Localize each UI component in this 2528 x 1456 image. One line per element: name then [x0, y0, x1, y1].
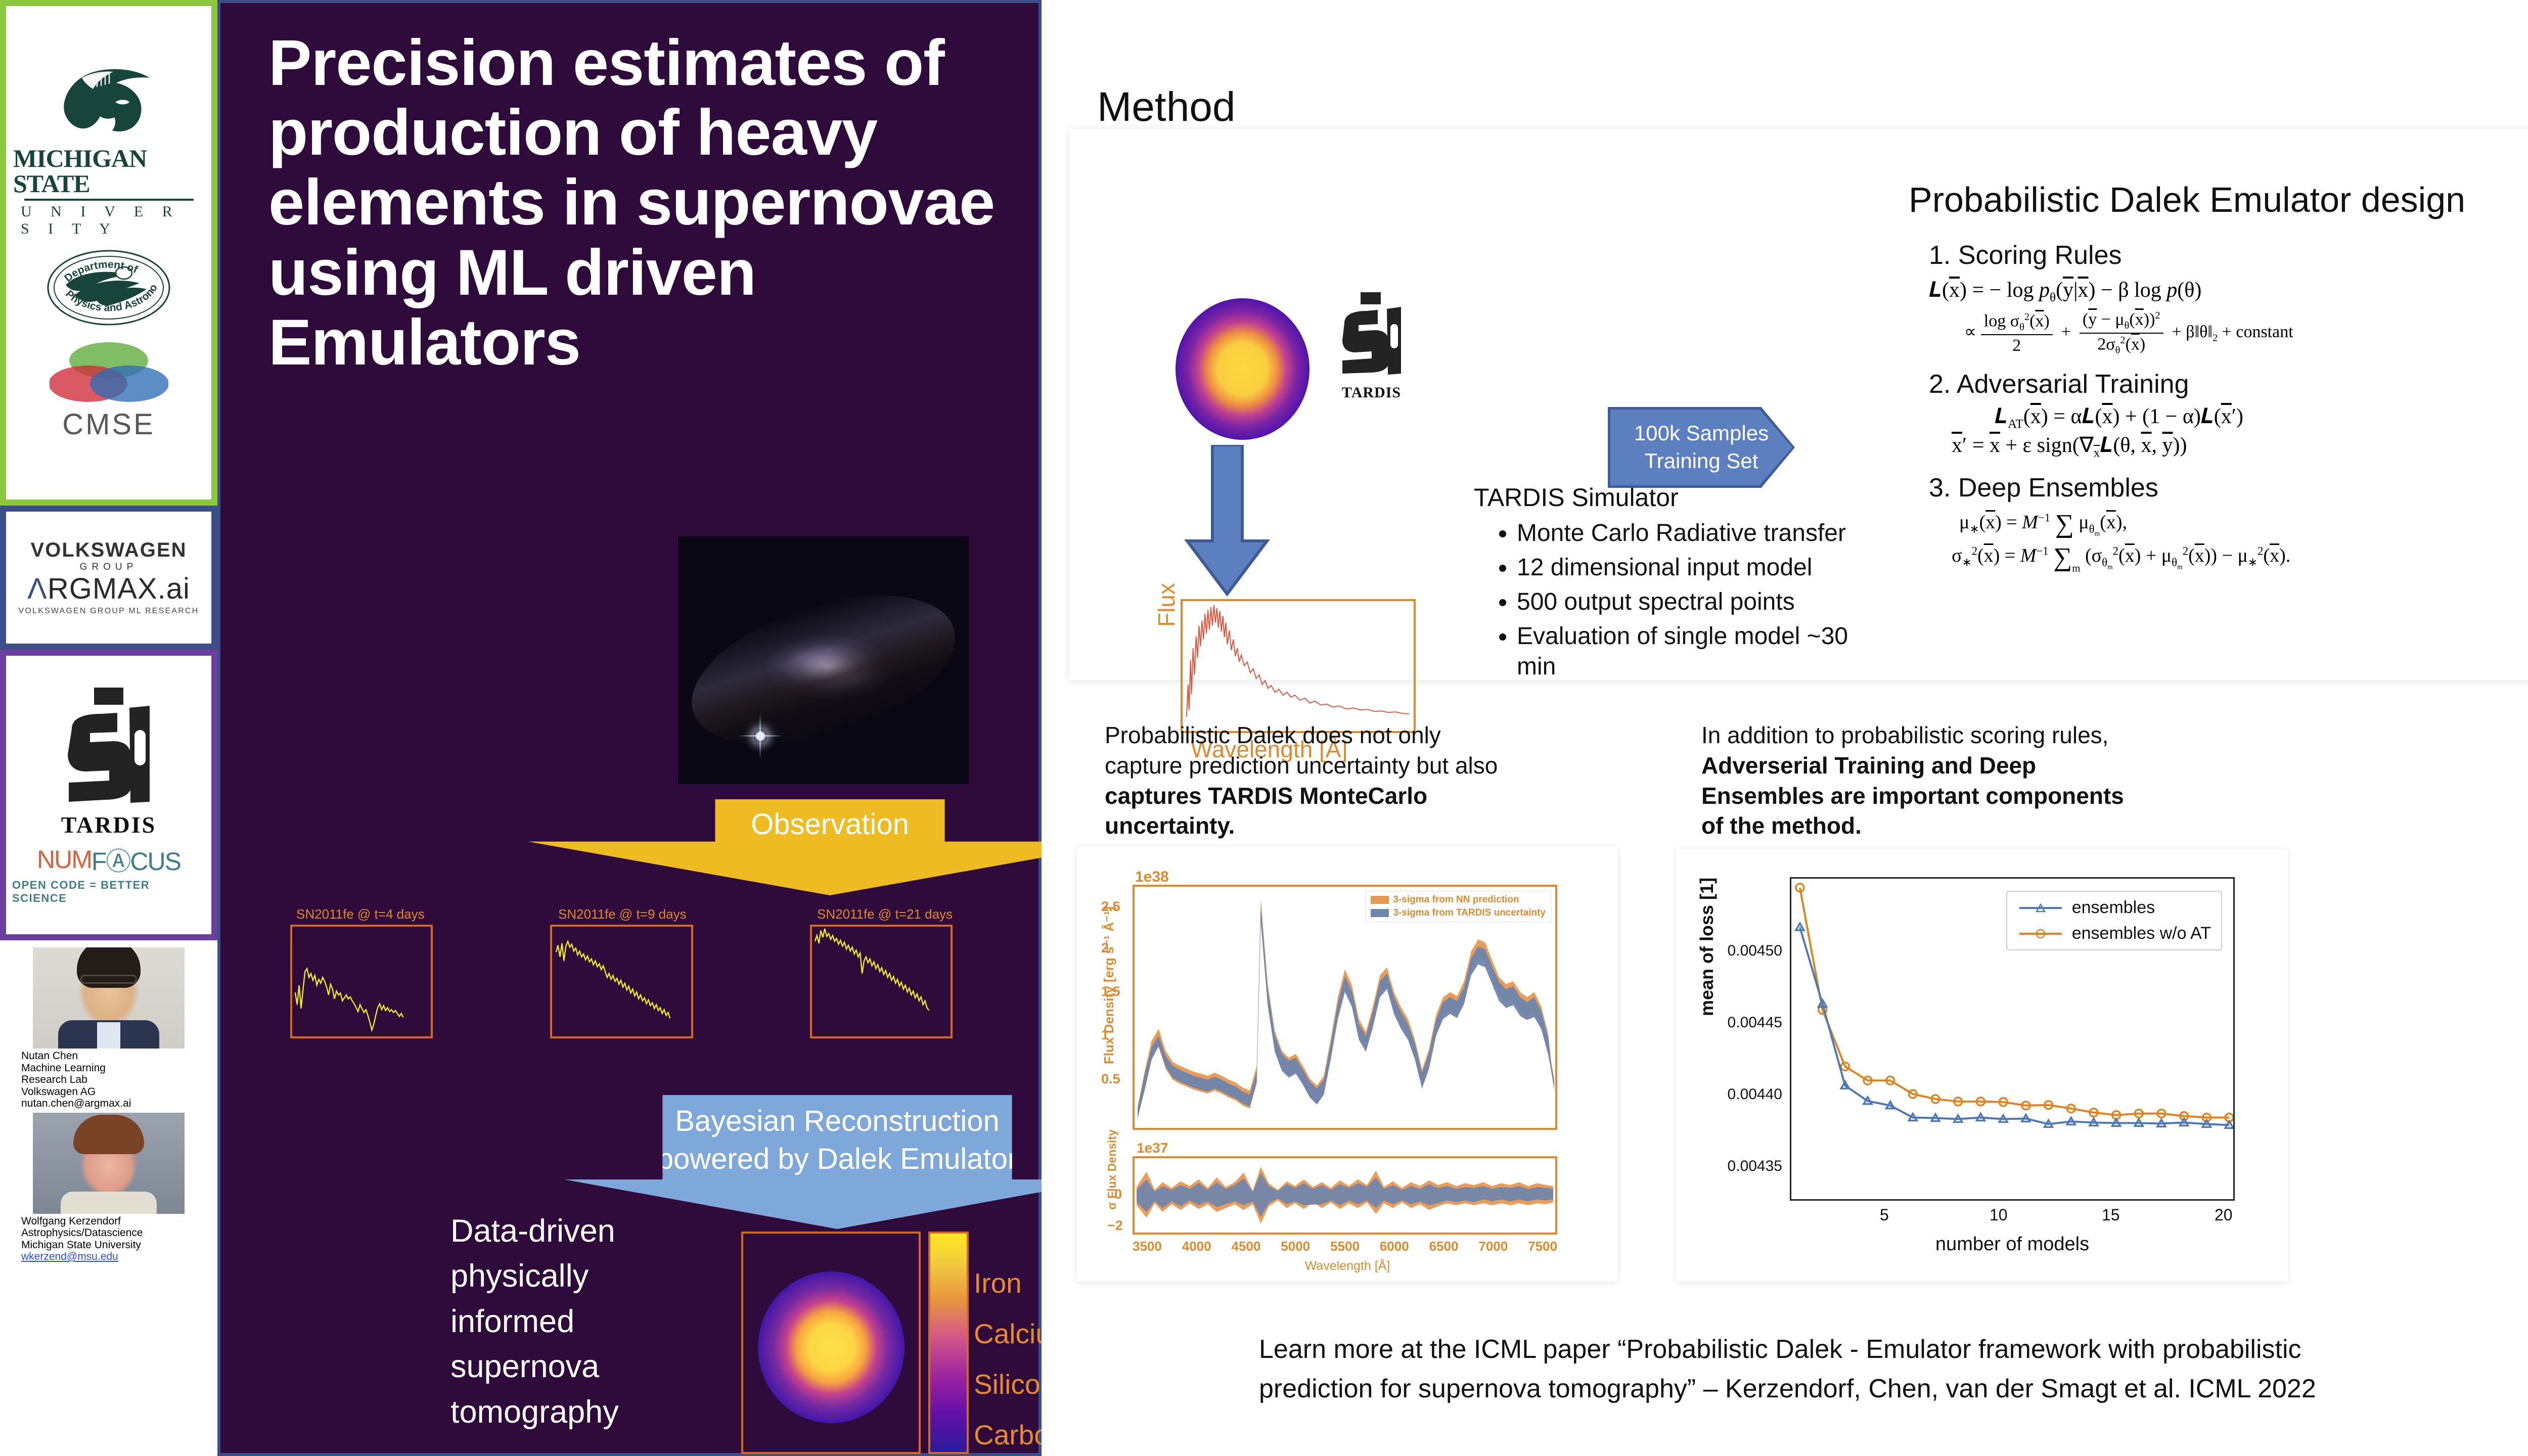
residual-exponent-label: 1e37 [1137, 1140, 1168, 1156]
xtick: 5000 [1281, 1239, 1310, 1254]
xtick: 7000 [1478, 1239, 1508, 1254]
legend-label-nn: 3-sigma from NN prediction [1393, 894, 1519, 905]
legend-label-ensembles-no-at: ensembles w/o AT [2072, 924, 2211, 943]
loss-ytick-column: 0.00450 0.00445 0.00440 0.00435 [1711, 895, 1782, 1198]
vw-ml-research-text: VOLKSWAGEN GROUP ML RESEARCH [18, 607, 199, 616]
numfocus-tagline: OPEN CODE = BETTER SCIENCE [12, 879, 205, 905]
emulator-design-title: Probabilistic Dalek Emulator design [1909, 179, 2465, 220]
step-number: 1. [1929, 241, 1951, 270]
ytick: 0.00440 [1728, 1086, 1782, 1103]
bayesian-arrow-line-2: powered by Dalek Emulator [657, 1140, 1017, 1178]
spectrum-curve [552, 927, 691, 1036]
equation-deep-ensembles-2: σ∗2(x) = M−1 ∑m (σθm2(x) + μθm2(x)) − μ∗… [1952, 542, 2290, 574]
step-3-heading: 3. Deep Ensembles [1929, 473, 2158, 503]
ytick-1-5: 1.5 [1101, 984, 1120, 999]
ytick-0-5: 0.5 [1101, 1071, 1120, 1087]
step-name: Adversarial Training [1957, 370, 2189, 399]
xtick: 20 [2215, 1206, 2233, 1224]
tardis-output-spectrum-plot [1181, 599, 1416, 733]
author-name: Nutan Chen [21, 1050, 207, 1062]
loss-x-axis-label: number of models [1790, 1234, 2235, 1255]
argmax-wordmark: ΛRGMAX.ai [27, 574, 190, 604]
step-name: Scoring Rules [1958, 241, 2122, 270]
author-name: Wolfgang Kerzendorf [21, 1215, 207, 1227]
data-driven-caption: Data-driven physically informed supernov… [450, 1209, 713, 1435]
msu-wordmark: MICHIGAN STATE [13, 146, 204, 196]
bayesian-arrow-line-1: Bayesian Reconstruction [657, 1102, 1017, 1140]
simulator-bullet-list: Monte Carlo Radiative transfer 12 dimens… [1492, 518, 1886, 686]
legend-label-ensembles: ensembles [2072, 898, 2155, 918]
colorbar-label-iron: Iron [974, 1267, 1022, 1299]
list-item: 12 dimensional input model [1517, 553, 1886, 583]
tardis-sn-icon [46, 686, 172, 814]
spectrum-label-2: SN2011fe @ t=21 days [817, 906, 953, 922]
spectrum-result-card: 1e38 Flux Density [erg s⁻¹ Å⁻¹] 3-sigma … [1077, 847, 1618, 1282]
flux-density-plot: 3-sigma from NN prediction 3-sigma from … [1133, 885, 1557, 1130]
poster-root: MICHIGAN STATE U N I V E R S I T Y Depar… [0, 0, 2528, 1456]
legend-label-tardis: 3-sigma from TARDIS uncertainty [1393, 907, 1546, 919]
mean-loss-plot: ensembles ensembles w/o AT [1790, 877, 2235, 1201]
ytick: 0.00450 [1728, 942, 1782, 960]
ytick-2-5: 2.5 [1101, 899, 1120, 915]
step-number: 3. [1929, 473, 1951, 503]
result-left-bold: captures TARDIS MonteCarlo uncertainty. [1105, 783, 1427, 839]
spectrum-label-0: SN2011fe @ t=4 days [296, 906, 425, 922]
xtick: 5500 [1330, 1239, 1360, 1254]
equation-scoring-rule-2: ∝ log σθ2(x)2 + (y − μθ(x))22σθ2(x) + β‖… [1964, 310, 2293, 356]
legend-swatch-nn [1371, 896, 1389, 904]
equation-adversarial-1: 𝑳AT(x) = α𝑳(x) + (1 − α)𝑳(x′) [1995, 404, 2243, 431]
supernova-host-galaxy-image [678, 536, 969, 784]
residual-ytick-0: 0 [1114, 1187, 1122, 1202]
tomography-blob [758, 1271, 905, 1423]
loss-result-card: mean of loss [1] 0.00450 0.00445 0.00440… [1676, 849, 2288, 1282]
wavelength-axis-title: Wavelength [Å] [1077, 1259, 1618, 1273]
result-right-plain: In addition to probabilistic scoring rul… [1701, 722, 2108, 748]
tardis-caption: TARDIS [1325, 384, 1418, 401]
avatar [33, 947, 185, 1049]
content-column: Method TARDIS Flux Wavelength [Å] TARDIS… [1042, 0, 2528, 1456]
tardis-wordmark: TARDIS [61, 811, 156, 838]
step-number: 2. [1929, 370, 1951, 399]
author-affil-2: Research Lab [21, 1074, 207, 1086]
author-nutan-chen: Nutan Chen Machine Learning Research Lab… [0, 947, 217, 1110]
numfocus-num: NUM [37, 845, 92, 874]
flux-band-chart [1135, 887, 1555, 1128]
spectrum-panel-0 [290, 925, 433, 1038]
physics-astronomy-seal-icon: Department of Physics and Astronomy [46, 249, 172, 327]
training-arrow-line-1: 100k Samples [1634, 420, 1769, 447]
legend-marker-ensembles-no-at [2017, 928, 2064, 939]
author-affil-1: Machine Learning [21, 1062, 207, 1074]
ytick: 0.00435 [1728, 1158, 1782, 1175]
training-set-chevron: 100k Samples Training Set [1610, 409, 1792, 485]
numfocus-wordmark: NUMFⒶCUS [37, 841, 180, 878]
logo-sidebar: MICHIGAN STATE U N I V E R S I T Y Depar… [0, 0, 217, 1456]
xtick: 4500 [1232, 1239, 1261, 1254]
spectrum-curve [812, 927, 951, 1036]
cmse-venn-icon [50, 339, 168, 407]
equation-deep-ensembles-1: μ∗(x) = M−1 ∑ μθm(x), [1959, 509, 2127, 539]
volkswagen-argmax-logo-box: VOLKSWAGEN GROUP ΛRGMAX.ai VOLKSWAGEN GR… [0, 506, 217, 650]
xtick: 7500 [1528, 1239, 1557, 1254]
list-item: Monte Carlo Radiative transfer [1517, 518, 1886, 549]
numfocus-focus: FⒶCUS [92, 841, 180, 878]
legend-swatch-tardis [1371, 909, 1389, 917]
element-colorbar [928, 1232, 969, 1454]
ytick-2-0: 2 [1101, 940, 1109, 956]
author-bio: Nutan Chen Machine Learning Research Lab… [10, 1050, 207, 1110]
section-heading-method: Method [1097, 83, 1236, 131]
avatar [33, 1113, 185, 1214]
flux-legend: 3-sigma from NN prediction 3-sigma from … [1365, 891, 1551, 922]
result-right-bold: Adverserial Training and Deep Ensembles … [1701, 752, 2124, 839]
method-card: TARDIS Flux Wavelength [Å] TARDIS Simula… [1069, 129, 2528, 680]
vw-group-text: GROUP [80, 562, 138, 573]
author-email[interactable]: wkerzend@msu.edu [21, 1251, 207, 1263]
spectrum-panel-1 [550, 925, 693, 1038]
arrow-down-icon [1183, 445, 1272, 597]
ytick: 0.00445 [1728, 1014, 1782, 1031]
flux-axis-label: Flux [1153, 583, 1180, 627]
supernova-point-source [754, 730, 767, 743]
model-blob-icon [1176, 298, 1310, 440]
author-affil-3: Volkswagen AG [21, 1086, 207, 1098]
msu-logo-box: MICHIGAN STATE U N I V E R S I T Y Depar… [0, 0, 217, 506]
argmax-lambda-glyph: Λ [27, 572, 48, 605]
list-item: Evaluation of single model ~30 min [1517, 621, 1886, 682]
wavelength-tick-row: 3500 4000 4500 5000 5500 6000 6500 7000 … [1133, 1239, 1557, 1254]
author-wolfgang-kerzendorf: Wolfgang Kerzendorf Astrophysics/Datasci… [0, 1113, 217, 1263]
spectrum-label-1: SN2011fe @ t=9 days [558, 906, 687, 922]
galaxy-disk [678, 567, 969, 773]
list-item: 500 output spectral points [1517, 587, 1886, 617]
argmax-rest: RGMAX.ai [48, 572, 190, 605]
xtick: 5 [1880, 1206, 1889, 1224]
result-left-caption: Probabilistic Dalek does not only captur… [1105, 720, 1504, 841]
cmse-wordmark: CMSE [62, 407, 155, 441]
xtick: 6000 [1380, 1239, 1409, 1254]
vw-wordmark: VOLKSWAGEN [31, 540, 187, 560]
step-name: Deep Ensembles [1958, 473, 2158, 503]
flux-exponent-label: 1e38 [1135, 869, 1169, 886]
msu-divider [24, 199, 194, 201]
ytick-1-0: 1 [1101, 1027, 1109, 1043]
xtick: 10 [1990, 1206, 2008, 1224]
spectrum-panel-2 [810, 925, 953, 1038]
training-arrow-line-2: Training Set [1634, 447, 1769, 475]
residual-plot: 0 −2 [1133, 1156, 1557, 1235]
xtick: 15 [2102, 1206, 2120, 1224]
loss-legend: ensembles ensembles w/o AT [2006, 891, 2222, 950]
equation-adversarial-2: x′ = x + ε sign(∇x𝑳(θ, x, y)) [1952, 432, 2187, 460]
residual-ytick-neg2: −2 [1107, 1218, 1123, 1234]
spectrum-curve [292, 927, 431, 1036]
step-1-heading: 1. Scoring Rules [1929, 240, 2122, 270]
author-affil-1: Astrophysics/Datascience [21, 1227, 207, 1239]
paper-reference-note: Learn more at the ICML paper “Probabilis… [1259, 1330, 2371, 1408]
legend-marker-ensembles [2017, 902, 2064, 914]
page-title: Precision estimates of production of hea… [268, 28, 1007, 378]
tardis-sn-icon [1327, 291, 1416, 392]
residual-band-chart [1135, 1158, 1555, 1233]
xtick: 6500 [1429, 1239, 1459, 1254]
spartan-helmet-icon [51, 65, 167, 141]
equation-scoring-rule-1: 𝑳(x) = − log pθ(y|x) − β log p(θ) [1929, 278, 2201, 305]
result-right-caption: In addition to probabilistic scoring rul… [1701, 720, 2131, 841]
msu-university-text: U N I V E R S I T Y [13, 203, 204, 238]
author-email[interactable]: nutan.chen@argmax.ai [21, 1098, 207, 1110]
xtick: 3500 [1133, 1239, 1162, 1254]
step-2-heading: 2. Adversarial Training [1929, 369, 2189, 399]
tardis-numfocus-logo-box: TARDIS NUMFⒶCUS OPEN CODE = BETTER SCIEN… [0, 650, 217, 940]
spectrum-curve [1183, 601, 1414, 731]
tomography-map [741, 1232, 921, 1454]
author-bio: Wolfgang Kerzendorf Astrophysics/Datasci… [10, 1215, 207, 1263]
xtick: 4000 [1182, 1239, 1211, 1254]
result-left-plain: Probabilistic Dalek does not only captur… [1105, 722, 1498, 779]
title-column: Precision estimates of production of hea… [217, 0, 1042, 1456]
author-affil-2: Michigan State University [21, 1239, 207, 1251]
